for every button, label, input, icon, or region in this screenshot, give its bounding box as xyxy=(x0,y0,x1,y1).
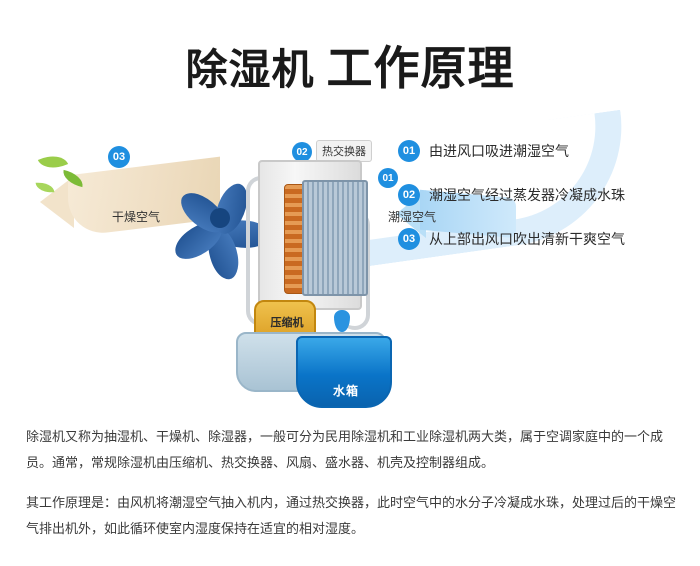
infographic-page: 除湿机工作原理 03 干燥空气 02 热交换器 xyxy=(0,0,700,566)
description-block: 除湿机又称为抽湿机、干燥机、除湿器，一般可分为民用除湿机和工业除湿机两大类，属于… xyxy=(26,424,678,542)
legend-item-03: 03 从上部出风口吹出清新干爽空气 xyxy=(398,228,698,250)
description-paragraph-2: 其工作原理是：由风机将潮湿空气抽入机内，通过热交换器，此时空气中的水分子冷凝成水… xyxy=(26,490,678,542)
legend-badge: 03 xyxy=(398,228,420,250)
evaporator-panel xyxy=(302,180,368,296)
legend-item-02: 02 潮湿空气经过蒸发器冷凝成水珠 xyxy=(398,184,698,206)
water-tank: 水箱 xyxy=(296,336,392,408)
page-title: 除湿机工作原理 xyxy=(0,32,700,98)
legend-badge: 01 xyxy=(398,140,420,162)
fan-hub xyxy=(210,208,230,228)
label-dry-air: 干燥空气 xyxy=(112,208,160,225)
page-title-part2: 工作原理 xyxy=(327,42,515,94)
unit-cabinet xyxy=(258,160,362,310)
steps-legend: 01 由进风口吸进潮湿空气 02 潮湿空气经过蒸发器冷凝成水珠 03 从上部出风… xyxy=(398,140,698,272)
legend-badge: 02 xyxy=(398,184,420,206)
page-title-part1: 除湿机 xyxy=(185,46,314,93)
water-droplet-icon xyxy=(334,310,350,332)
label-water-tank: 水箱 xyxy=(298,382,394,399)
label-compressor: 压缩机 xyxy=(262,314,312,330)
legend-item-01: 01 由进风口吸进潮湿空气 xyxy=(398,140,698,162)
description-paragraph-1: 除湿机又称为抽湿机、干燥机、除湿器，一般可分为民用除湿机和工业除湿机两大类，属于… xyxy=(26,424,678,476)
legend-text: 从上部出风口吹出清新干爽空气 xyxy=(429,229,625,249)
badge-moist-air: 01 xyxy=(378,168,398,188)
badge-dry-air: 03 xyxy=(108,146,130,168)
legend-text: 由进风口吸进潮湿空气 xyxy=(429,141,569,161)
legend-text: 潮湿空气经过蒸发器冷凝成水珠 xyxy=(429,185,625,205)
